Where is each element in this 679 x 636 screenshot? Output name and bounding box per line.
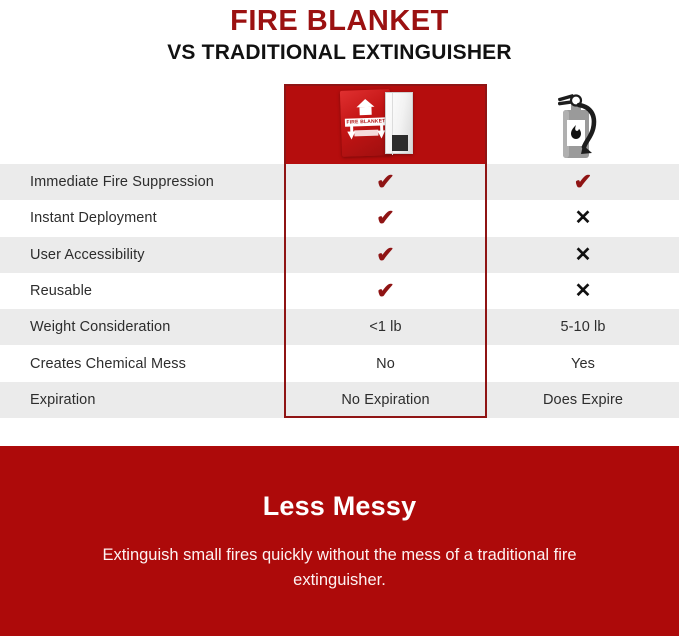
row-label-cell: User Accessibility [0, 237, 284, 273]
row-label: Expiration [30, 392, 95, 408]
infographic-page: FIRE BLANKET VS TRADITIONAL EXTINGUISHER… [0, 0, 679, 636]
row-label: Reusable [30, 283, 92, 299]
table-row: Reusable ✔ ✕ [0, 273, 679, 309]
check-icon: ✔ [376, 280, 394, 302]
row-label: Creates Chemical Mess [30, 356, 186, 372]
value-cell-extinguisher: 5-10 lb [487, 309, 679, 345]
table-body: Immediate Fire Suppression ✔ ✔ Instant D… [0, 164, 679, 418]
table-row: Immediate Fire Suppression ✔ ✔ [0, 164, 679, 200]
value-text: <1 lb [369, 319, 401, 335]
row-label: User Accessibility [30, 247, 145, 263]
table-row: Instant Deployment ✔ ✕ [0, 200, 679, 236]
row-label: Instant Deployment [30, 210, 157, 226]
page-subtitle: VS TRADITIONAL EXTINGUISHER [0, 40, 679, 66]
value-cell-extinguisher: ✔ [487, 164, 679, 200]
value-text: Yes [571, 356, 595, 372]
table-header-row: FIRE BLANKET [0, 84, 679, 164]
value-cell-extinguisher: ✕ [487, 273, 679, 309]
fire-blanket-product-image: FIRE BLANKET [333, 88, 439, 160]
value-cell-extinguisher: ✕ [487, 200, 679, 236]
value-text: No [376, 356, 395, 372]
cross-icon: ✕ [575, 245, 592, 265]
table-row: User Accessibility ✔ ✕ [0, 237, 679, 273]
check-icon: ✔ [574, 171, 592, 193]
header-cell-extinguisher [487, 84, 679, 164]
value-cell-extinguisher: Does Expire [487, 382, 679, 418]
value-cell-fire-blanket: ✔ [284, 164, 487, 200]
check-icon: ✔ [376, 171, 394, 193]
value-cell-fire-blanket: ✔ [284, 237, 487, 273]
value-cell-fire-blanket: ✔ [284, 273, 487, 309]
value-cell-fire-blanket: ✔ [284, 200, 487, 236]
house-body-icon [359, 107, 371, 115]
value-text: 5-10 lb [560, 319, 605, 335]
row-label: Weight Consideration [30, 319, 170, 335]
table-row: Weight Consideration <1 lb 5-10 lb [0, 309, 679, 345]
comparison-table: FIRE BLANKET [0, 84, 679, 418]
value-cell-fire-blanket: No [284, 345, 487, 381]
banner-body: Extinguish small fires quickly without t… [60, 522, 620, 593]
down-arrow-left-icon [347, 131, 355, 139]
banner-title: Less Messy [0, 446, 679, 522]
value-cell-fire-blanket: <1 lb [284, 309, 487, 345]
value-cell-fire-blanket: No Expiration [284, 382, 487, 418]
row-label-cell: Weight Consideration [0, 309, 284, 345]
value-text: No Expiration [341, 392, 429, 408]
cross-icon: ✕ [575, 281, 592, 301]
header-cell-feature [0, 84, 284, 164]
pouch-sub-label [354, 130, 378, 137]
cross-icon: ✕ [575, 208, 592, 228]
row-label: Immediate Fire Suppression [30, 174, 214, 190]
page-title: FIRE BLANKET [0, 4, 679, 38]
folded-blanket [385, 92, 413, 154]
check-icon: ✔ [376, 207, 394, 229]
header-cell-fire-blanket: FIRE BLANKET [284, 84, 487, 164]
fire-extinguisher-icon [552, 87, 614, 161]
row-label-cell: Immediate Fire Suppression [0, 164, 284, 200]
blanket-pull-tab [392, 135, 408, 151]
bottom-banner: Less Messy Extinguish small fires quickl… [0, 446, 679, 636]
row-label-cell: Instant Deployment [0, 200, 284, 236]
row-label-cell: Creates Chemical Mess [0, 345, 284, 381]
table-row: Creates Chemical Mess No Yes [0, 345, 679, 381]
value-cell-extinguisher: ✕ [487, 237, 679, 273]
value-text: Does Expire [543, 392, 623, 408]
table-row: Expiration No Expiration Does Expire [0, 382, 679, 418]
row-label-cell: Expiration [0, 382, 284, 418]
value-cell-extinguisher: Yes [487, 345, 679, 381]
row-label-cell: Reusable [0, 273, 284, 309]
title-block: FIRE BLANKET VS TRADITIONAL EXTINGUISHER [0, 0, 679, 66]
check-icon: ✔ [376, 244, 394, 266]
